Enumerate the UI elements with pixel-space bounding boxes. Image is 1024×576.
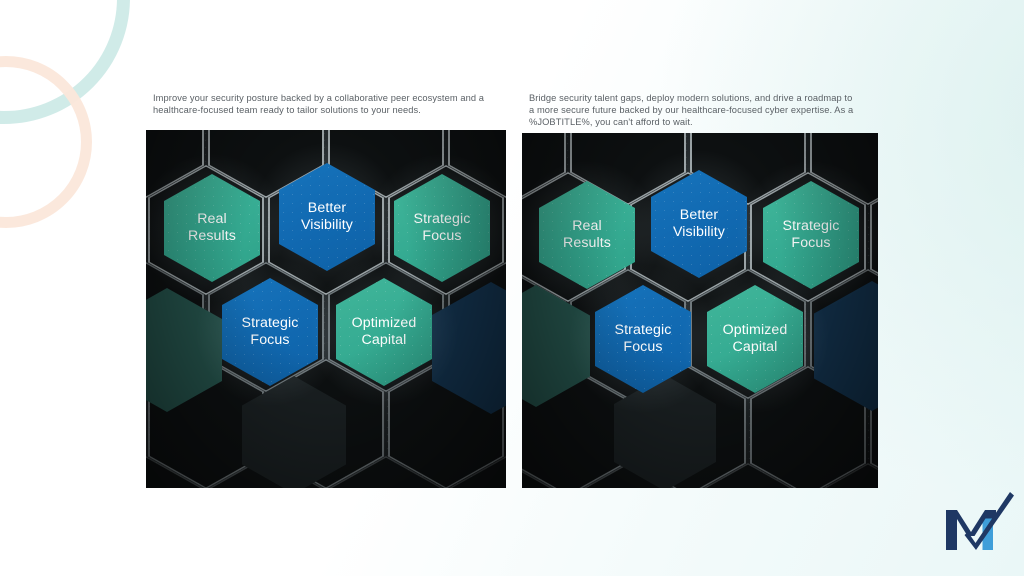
hex-card-label: BetterVisibility [673,207,725,242]
slide-canvas: Improve your security posture backed by … [0,0,1024,576]
hex-card-label: RealResults [563,218,611,253]
hex-card-label: StrategicFocus [414,211,471,246]
hex-card-label-line2: Results [188,228,236,246]
hex-card-label-line1: Better [301,200,353,218]
hex-card-label-line1: Strategic [242,315,299,333]
hex-card-label-line2: Focus [783,235,840,253]
hex-card-label-line2: Focus [242,332,299,350]
hex-card-label-line1: Better [673,207,725,225]
hex-card-label-line1: Real [563,218,611,236]
hex-card-label: StrategicFocus [615,322,672,357]
caption-left: Improve your security posture backed by … [153,92,493,116]
hex-card-label-line2: Results [563,235,611,253]
company-logo-m-checkmark [938,488,1016,560]
hex-card-label-line2: Visibility [301,217,353,235]
hex-card-label-line1: Optimized [723,322,788,340]
hex-card-label-line1: Strategic [615,322,672,340]
hex-card-label: OptimizedCapital [352,315,417,350]
hex-card-label-line2: Focus [615,339,672,357]
hex-card-label: StrategicFocus [242,315,299,350]
hex-card-label-line2: Capital [352,332,417,350]
hex-card-label-line1: Strategic [414,211,471,229]
hex-card-label-line1: Strategic [783,218,840,236]
hex-card-label-line2: Visibility [673,224,725,242]
hex-card-label-line1: Real [188,211,236,229]
hex-graphic-panel-left: RealResultsBetterVisibilityStrategicFocu… [146,130,506,488]
hex-card-label: BetterVisibility [301,200,353,235]
hex-card-label: RealResults [188,211,236,246]
hex-graphic-panel-right: RealResultsBetterVisibilityStrategicFocu… [522,133,878,488]
hex-card-label-line2: Focus [414,228,471,246]
caption-right: Bridge security talent gaps, deploy mode… [529,92,859,129]
hex-card-label: StrategicFocus [783,218,840,253]
hex-card-label-line1: Optimized [352,315,417,333]
hex-card-label: OptimizedCapital [723,322,788,357]
hex-card-label-line2: Capital [723,339,788,357]
